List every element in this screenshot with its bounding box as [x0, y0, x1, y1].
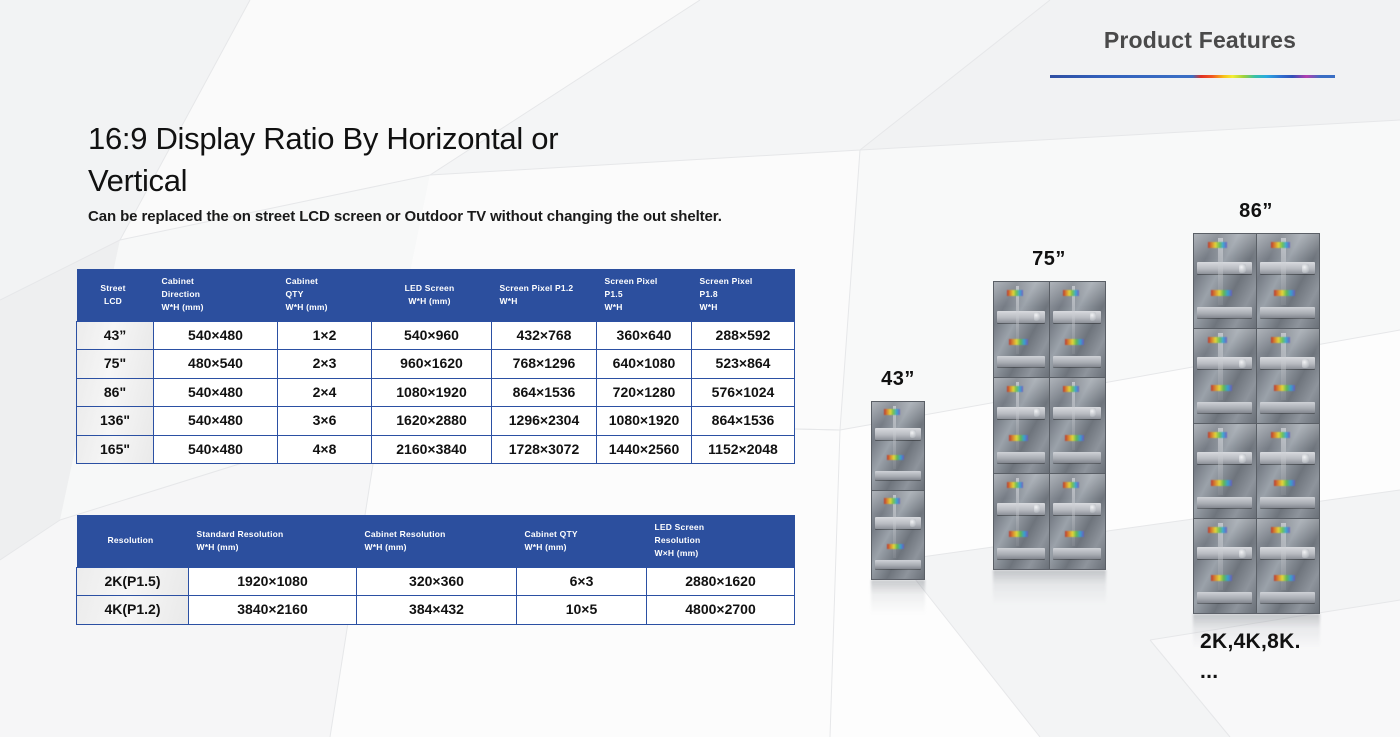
led-cabinet	[994, 378, 1049, 473]
cabinet-knob-icon	[1239, 264, 1246, 272]
cell-pixel-p12: 768×1296	[492, 350, 597, 379]
cell-pixel-p18: 523×864	[692, 350, 795, 379]
cabinet-rainbow-icon	[1063, 482, 1080, 489]
heading-line-1: 16:9 Display Ratio By Horizontal or	[88, 121, 558, 156]
led-panel-group-75: 75”	[963, 248, 1135, 604]
cell-cabinet-qty: 2×4	[278, 378, 372, 407]
table-row: 86" 540×480 2×4 1080×1920 864×1536 720×1…	[77, 378, 795, 407]
cabinet-knob-icon	[1302, 549, 1309, 557]
cell-cabinet-direction: 540×480	[154, 435, 278, 464]
table-row: 43” 540×480 1×2 540×960 432×768 360×640 …	[77, 321, 795, 350]
led-cabinet	[872, 402, 924, 490]
cell-cabinet-resolution: 320×360	[357, 567, 517, 596]
table-row: 136" 540×480 3×6 1620×2880 1296×2304 108…	[77, 407, 795, 436]
cell-cabinet-qty: 4×8	[278, 435, 372, 464]
cabinet-rainbow-icon	[1271, 242, 1290, 249]
cabinet-knob-icon	[1239, 454, 1246, 462]
caption-line-1: 2K,4K,8K.	[1200, 627, 1301, 657]
cabinet-knob-icon	[1239, 549, 1246, 557]
cabinet-rainbow-icon	[1271, 337, 1290, 344]
col-header-resolution: Resolution	[77, 515, 189, 567]
table-resolution-header: Resolution Standard Resolution W*H (mm) …	[77, 515, 795, 567]
table-row: 4K(P1.2) 3840×2160 384×432 10×5 4800×270…	[77, 596, 795, 625]
panel-reflection-43	[871, 580, 925, 614]
cabinet-rainbow-icon	[1274, 290, 1295, 296]
cell-cabinet-qty: 3×6	[278, 407, 372, 436]
panel-cabinet-grid-75	[993, 281, 1106, 570]
cabinet-rainbow-icon	[1208, 527, 1227, 534]
caption-line-2: ...	[1200, 657, 1301, 687]
cabinet-rainbow-icon	[1271, 527, 1290, 534]
cabinet-rainbow-icon	[1009, 531, 1028, 537]
col-header-standard-resolution: Standard Resolution W*H (mm)	[189, 515, 357, 567]
cabinet-rainbow-icon	[1211, 480, 1232, 486]
panel-label-43: 43”	[838, 368, 958, 391]
cabinet-rainbow-icon	[1065, 435, 1084, 441]
cell-pixel-p12: 864×1536	[492, 378, 597, 407]
cabinet-knob-icon	[1090, 408, 1097, 417]
heading-subtitle: Can be replaced the on street LCD screen…	[88, 208, 808, 225]
cabinet-rainbow-icon	[1063, 290, 1080, 297]
cabinet-rainbow-icon	[1211, 290, 1232, 296]
cell-street-lcd: 75"	[77, 350, 154, 379]
col-header-screen-pixel-p12: Screen Pixel P1.2 W*H	[492, 269, 597, 321]
gradient-rule-divider	[1050, 75, 1335, 78]
led-panel-group-86: 86”	[1165, 200, 1347, 648]
cell-street-lcd: 86"	[77, 378, 154, 407]
panel-reflection-75	[993, 570, 1106, 604]
cell-resolution: 2K(P1.5)	[77, 567, 189, 596]
resolution-spec-table: Resolution Standard Resolution W*H (mm) …	[76, 515, 795, 625]
cell-led-screen: 960×1620	[372, 350, 492, 379]
resolutions-caption: 2K,4K,8K. ...	[1200, 627, 1301, 688]
cabinet-rainbow-icon	[887, 455, 905, 460]
cell-cabinet-direction: 540×480	[154, 407, 278, 436]
cell-pixel-p15: 1080×1920	[597, 407, 692, 436]
panel-cabinet-grid-86	[1193, 233, 1320, 614]
led-cabinet	[1050, 282, 1105, 377]
cabinet-rainbow-icon	[1007, 290, 1024, 297]
cell-pixel-p15: 1440×2560	[597, 435, 692, 464]
cell-street-lcd: 136"	[77, 407, 154, 436]
cell-pixel-p12: 1728×3072	[492, 435, 597, 464]
led-cabinet	[1194, 234, 1256, 328]
cabinet-rainbow-icon	[1063, 386, 1080, 393]
col-header-cabinet-qty: Cabinet QTY W*H (mm)	[517, 515, 647, 567]
cell-led-screen: 540×960	[372, 321, 492, 350]
col-header-cabinet-resolution: Cabinet Resolution W*H (mm)	[357, 515, 517, 567]
cabinet-rainbow-icon	[1271, 432, 1290, 439]
cabinet-knob-icon	[910, 430, 916, 438]
led-cabinet	[1194, 519, 1256, 613]
led-cabinet	[1257, 234, 1319, 328]
cabinet-rainbow-icon	[1211, 385, 1232, 391]
led-cabinet	[1050, 474, 1105, 569]
table-resolution-body: 2K(P1.5) 1920×1080 320×360 6×3 2880×1620…	[77, 567, 795, 624]
led-panel-group-43: 43”	[838, 368, 958, 614]
table-main-header: Street LCD Cabinet Direction W*H (mm) Ca…	[77, 269, 795, 321]
led-cabinet	[1257, 329, 1319, 423]
heading-block: 16:9 Display Ratio By Horizontal or Vert…	[88, 118, 808, 225]
cell-pixel-p15: 360×640	[597, 321, 692, 350]
panel-cabinet-grid-43	[871, 401, 925, 580]
cell-pixel-p18: 288×592	[692, 321, 795, 350]
cabinet-knob-icon	[1034, 504, 1041, 513]
led-cabinet	[994, 474, 1049, 569]
led-cabinet	[872, 491, 924, 579]
cell-led-screen: 1080×1920	[372, 378, 492, 407]
cell-led-screen: 1620×2880	[372, 407, 492, 436]
cell-cabinet-direction: 540×480	[154, 378, 278, 407]
table-header-row: Resolution Standard Resolution W*H (mm) …	[77, 515, 795, 567]
col-header-screen-pixel-p15: Screen Pixel P1.5 W*H	[597, 269, 692, 321]
cabinet-rainbow-icon	[1208, 432, 1227, 439]
cell-pixel-p18: 576×1024	[692, 378, 795, 407]
cell-pixel-p18: 864×1536	[692, 407, 795, 436]
cell-cabinet-qty: 1×2	[278, 321, 372, 350]
cabinet-rainbow-icon	[1274, 480, 1295, 486]
cabinet-rainbow-icon	[1211, 575, 1232, 581]
table-row: 2K(P1.5) 1920×1080 320×360 6×3 2880×1620	[77, 567, 795, 596]
cell-cabinet-qty: 6×3	[517, 567, 647, 596]
product-features-header: Product Features	[1050, 28, 1350, 78]
cell-pixel-p18: 1152×2048	[692, 435, 795, 464]
table-main-body: 43” 540×480 1×2 540×960 432×768 360×640 …	[77, 321, 795, 464]
led-cabinet	[1050, 378, 1105, 473]
table-row: 165" 540×480 4×8 2160×3840 1728×3072 144…	[77, 435, 795, 464]
cabinet-rainbow-icon	[1009, 339, 1028, 345]
heading-line-2: Vertical	[88, 163, 187, 198]
cell-cabinet-direction: 480×540	[154, 350, 278, 379]
cabinet-knob-icon	[1302, 359, 1309, 367]
panel-label-86: 86”	[1165, 200, 1347, 223]
led-cabinet	[1257, 424, 1319, 518]
col-header-screen-pixel-p18: Screen Pixel P1.8 W*H	[692, 269, 795, 321]
led-cabinet	[1194, 329, 1256, 423]
cell-cabinet-resolution: 384×432	[357, 596, 517, 625]
cabinet-knob-icon	[1090, 312, 1097, 321]
col-header-street-lcd: Street LCD	[77, 269, 154, 321]
cell-cabinet-direction: 540×480	[154, 321, 278, 350]
cabinet-knob-icon	[1302, 264, 1309, 272]
cell-street-lcd: 43”	[77, 321, 154, 350]
cabinet-knob-icon	[1239, 359, 1246, 367]
col-header-cabinet-qty: Cabinet QTY W*H (mm)	[278, 269, 372, 321]
cell-cabinet-qty: 2×3	[278, 350, 372, 379]
page-title: Product Features	[1050, 28, 1350, 53]
cell-led-screen-resolution: 4800×2700	[647, 596, 795, 625]
cabinet-knob-icon	[1090, 504, 1097, 513]
cell-pixel-p12: 1296×2304	[492, 407, 597, 436]
cabinet-rainbow-icon	[1009, 435, 1028, 441]
cell-street-lcd: 165"	[77, 435, 154, 464]
cabinet-knob-icon	[910, 519, 916, 527]
col-header-led-screen: LED Screen W*H (mm)	[372, 269, 492, 321]
cell-pixel-p12: 432×768	[492, 321, 597, 350]
table-row: 75" 480×540 2×3 960×1620 768×1296 640×10…	[77, 350, 795, 379]
panel-label-75: 75”	[963, 248, 1135, 271]
cell-led-screen: 2160×3840	[372, 435, 492, 464]
cabinet-rainbow-icon	[1007, 482, 1024, 489]
cabinet-rainbow-icon	[1208, 242, 1227, 249]
cabinet-rainbow-icon	[884, 498, 900, 504]
col-header-led-screen-resolution: LED Screen Resolution W×H (mm)	[647, 515, 795, 567]
cell-standard-resolution: 1920×1080	[189, 567, 357, 596]
cabinet-rainbow-icon	[1065, 531, 1084, 537]
cabinet-rainbow-icon	[1274, 385, 1295, 391]
cell-pixel-p15: 720×1280	[597, 378, 692, 407]
cabinet-rainbow-icon	[1208, 337, 1227, 344]
cabinet-rainbow-icon	[884, 409, 900, 415]
cabinet-knob-icon	[1034, 408, 1041, 417]
cell-standard-resolution: 3840×2160	[189, 596, 357, 625]
cabinet-rainbow-icon	[1065, 339, 1084, 345]
led-cabinet	[1257, 519, 1319, 613]
cabinet-rainbow-icon	[1274, 575, 1295, 581]
table-header-row: Street LCD Cabinet Direction W*H (mm) Ca…	[77, 269, 795, 321]
street-lcd-spec-table: Street LCD Cabinet Direction W*H (mm) Ca…	[76, 269, 795, 464]
cell-pixel-p15: 640×1080	[597, 350, 692, 379]
cabinet-knob-icon	[1034, 312, 1041, 321]
cell-led-screen-resolution: 2880×1620	[647, 567, 795, 596]
cabinet-knob-icon	[1302, 454, 1309, 462]
col-header-cabinet-direction: Cabinet Direction W*H (mm)	[154, 269, 278, 321]
led-cabinet	[1194, 424, 1256, 518]
cabinet-rainbow-icon	[887, 544, 905, 549]
cell-cabinet-qty: 10×5	[517, 596, 647, 625]
cell-resolution: 4K(P1.2)	[77, 596, 189, 625]
cabinet-rainbow-icon	[1007, 386, 1024, 393]
led-cabinet	[994, 282, 1049, 377]
